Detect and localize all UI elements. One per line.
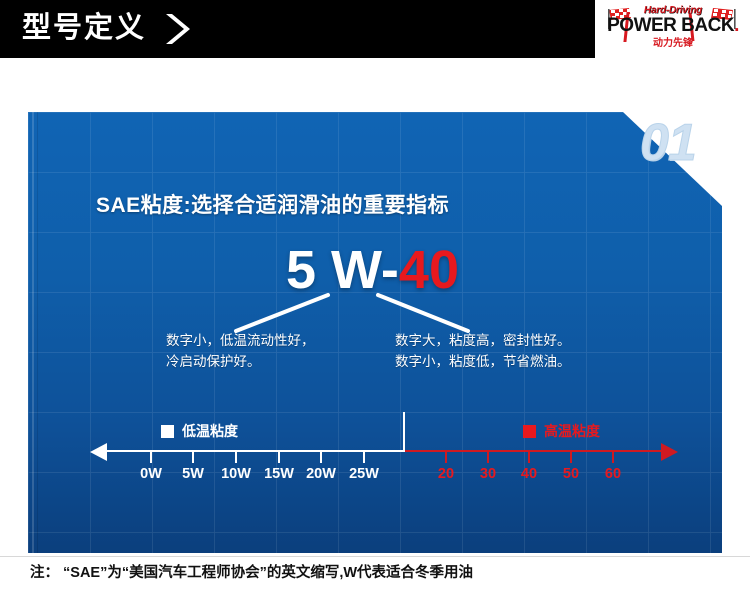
legend-hot-label: 高温粘度 xyxy=(544,422,600,440)
chevron-right-icon xyxy=(160,11,194,47)
tick-cold-3 xyxy=(278,452,280,463)
axis-line-cold xyxy=(100,450,404,452)
tick-label-cold-2: 10W xyxy=(221,465,251,483)
brand-logo: Hard-Driving POWER BACK. 动力先锋 xyxy=(595,0,750,58)
brand-name-cn: 动力先锋 xyxy=(633,38,713,50)
tick-label-cold-1: 5W xyxy=(182,465,204,483)
viscosity-scale: 低温粘度 高温粘度 0W 5W 10W 15W 20W xyxy=(28,112,722,553)
page-title: 型号定义 xyxy=(22,9,146,47)
legend-cold-swatch-icon xyxy=(161,425,174,438)
brand-name: POWER BACK. xyxy=(603,15,743,36)
legend-hot-swatch-icon xyxy=(523,425,536,438)
tick-label-hot-0: 20 xyxy=(438,465,454,483)
tick-hot-4 xyxy=(612,452,614,463)
tick-label-hot-3: 50 xyxy=(563,465,579,483)
tick-hot-0 xyxy=(445,452,447,463)
scale-center-divider xyxy=(403,412,405,452)
tick-cold-1 xyxy=(192,452,194,463)
arrow-left-icon xyxy=(90,442,108,467)
legend-cold-label: 低温粘度 xyxy=(182,422,238,440)
brand-name-suffix: . xyxy=(734,15,739,36)
footer-note: 注： “SAE”为“美国汽车工程师协会”的英文缩写,W代表适合冬季用油 xyxy=(30,563,473,583)
tick-label-cold-0: 0W xyxy=(140,465,162,483)
brand-name-text: POWER BACK xyxy=(607,15,734,36)
legend-cold-viscosity: 低温粘度 xyxy=(161,422,238,440)
arrow-right-icon xyxy=(660,442,678,467)
tick-cold-2 xyxy=(235,452,237,463)
tick-label-cold-3: 15W xyxy=(264,465,294,483)
tick-label-hot-2: 40 xyxy=(521,465,537,483)
tick-cold-0 xyxy=(150,452,152,463)
tick-label-hot-1: 30 xyxy=(480,465,496,483)
legend-hot-viscosity: 高温粘度 xyxy=(523,422,600,440)
tick-hot-1 xyxy=(487,452,489,463)
tick-hot-3 xyxy=(570,452,572,463)
tick-cold-4 xyxy=(320,452,322,463)
tick-hot-2 xyxy=(528,452,530,463)
tick-label-hot-4: 60 xyxy=(605,465,621,483)
axis-line-hot xyxy=(404,450,670,452)
footer-divider xyxy=(0,556,750,557)
tick-label-cold-4: 20W xyxy=(306,465,336,483)
tick-label-cold-5: 25W xyxy=(349,465,379,483)
tick-cold-5 xyxy=(363,452,365,463)
content-panel: 01 SAE粘度:选择合适润滑油的重要指标 5 W-40 数字小，低温流动性好，… xyxy=(28,112,722,553)
